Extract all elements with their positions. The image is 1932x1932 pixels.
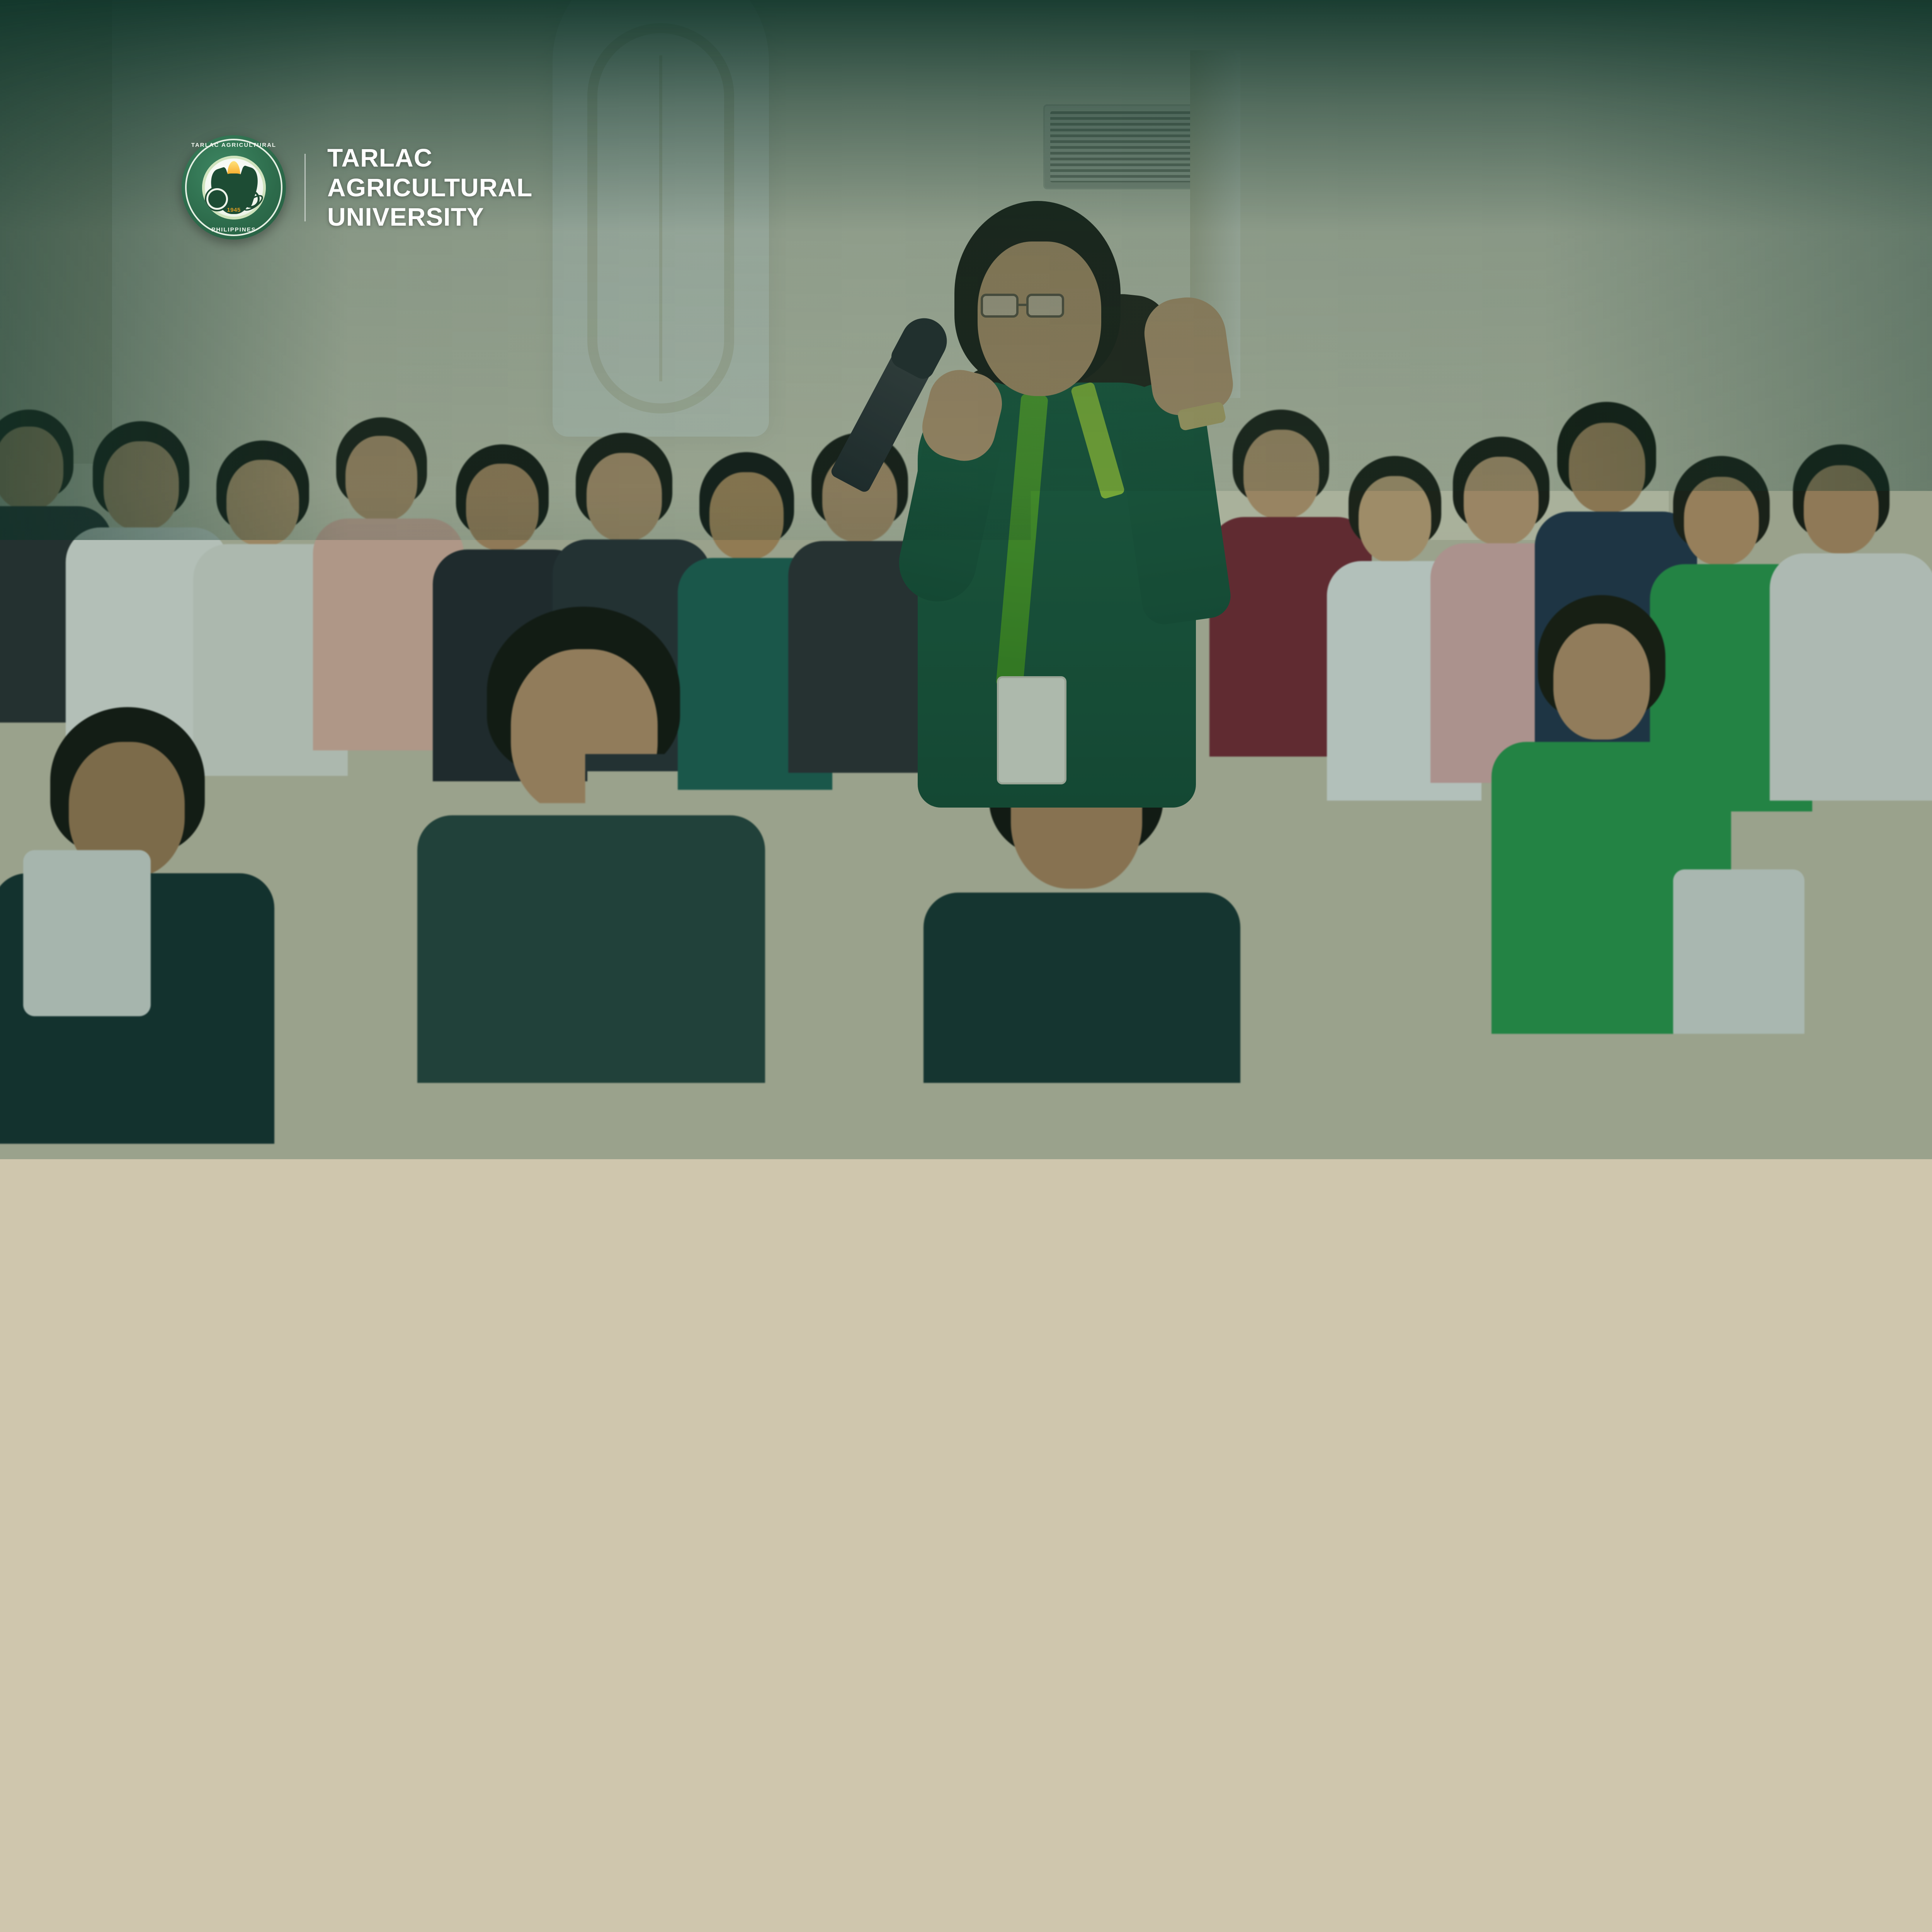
article-summary: Demonstrating its dedication to producin…: [278, 1473, 1743, 1628]
tau-seal-icon: TARLAC AGRICULTURAL PHILIPPINES 1945: [182, 135, 286, 240]
seal-year: 1945: [202, 207, 266, 213]
torch-flame-icon: [1034, 1864, 1047, 1886]
the-reporter-label: REPORTER: [662, 1908, 701, 1916]
suc-wordmark: SUC LEVEL: [907, 1832, 981, 1872]
logo-suc-level-iv: SUC LEVEL: [907, 1832, 981, 1932]
headline-highlight: Pre- Deployment Orientation Seminar: [182, 1289, 1515, 1373]
logo-prime-hrm: PRIME HRM: [1023, 1854, 1058, 1917]
the-col3-label: EDUCATION: [682, 1868, 686, 1893]
the-letters-icon: TIMES HIGHER EDUCATION: [662, 1855, 689, 1884]
headline-rest: for: [1515, 1289, 1635, 1373]
greenmetric-metric: Metric: [398, 1874, 437, 1889]
suc-line1: SUC: [907, 1832, 981, 1852]
appliedhe-applied: Applied: [488, 1861, 555, 1883]
logo-caption: 2025 | RANKED 1001-1500: [97, 1897, 197, 1906]
logo-subtitle: World University Rankings: [362, 1889, 446, 1896]
iso-sub1: CERTIFIED QUALITY: [749, 1903, 846, 1913]
five-stars-icon: ★★★★★: [243, 1861, 316, 1874]
iso-standard-label: ISO 9001:2015: [743, 1882, 865, 1901]
logo-caption: 2026 | Ranked 246: [488, 1900, 558, 1909]
website-panel[interactable]: tau.edu.ph #SmartTAU: [1526, 1813, 1932, 1932]
the-rankings-label2: RANKINGS: [662, 1900, 701, 1908]
seal-arc-bottom: PHILIPPINES: [182, 226, 286, 233]
hrm-label: HRM: [1031, 1908, 1051, 1917]
website-url[interactable]: tau.edu.ph: [1633, 1835, 1856, 1880]
university-name-line2: AGRICULTURAL: [327, 173, 532, 202]
logo-caption: 2025 | Ranked 308: [369, 1900, 439, 1909]
the-rankings-label: RANKINGS: [139, 1874, 179, 1884]
iso-sub2: MANAGEMENT SYSTEM: [749, 1913, 859, 1923]
logo-ui-greenmetric: UI Green Metric World University Ranking…: [362, 1862, 446, 1909]
logo-appliedhe: AppliedHE™ Public University Ranking 202…: [488, 1862, 620, 1909]
iso-description: CERTIFIED QUALITY MANAGEMENT SYSTEM: [743, 1901, 865, 1926]
prime-label: PRIME: [1024, 1898, 1058, 1908]
trademark-symbol: ™: [583, 1865, 591, 1874]
poster-canvas: TARLAC AGRICULTURAL PHILIPPINES 1945 TAR…: [0, 0, 1932, 1932]
wuri-wordmark: WURI: [247, 1874, 313, 1898]
university-name-line1: TARLAC: [327, 143, 532, 173]
hashtag: #SmartTAU: [1680, 1884, 1809, 1910]
logo-divider: [304, 154, 306, 221]
scroll-chevrons[interactable]: [191, 1536, 237, 1609]
the-col2-label: HIGHER: [673, 1872, 677, 1889]
university-name: TARLAC AGRICULTURAL UNIVERSITY: [327, 143, 532, 232]
logo-iso-9001: W ISO 9001:2015 CERTIFIED QUALITY MANAGE…: [743, 1845, 865, 1926]
logo-subtitle: Public University Ranking: [488, 1884, 620, 1897]
the-university-label: UNIVERSITY: [662, 1892, 701, 1900]
certification-seal-icon: W: [786, 1845, 823, 1882]
color-bars-icon: [139, 1886, 179, 1894]
chevron-down-icon[interactable]: [191, 1572, 226, 1590]
roman-numeral-four-icon: [927, 1872, 962, 1906]
logo-caption: 2025|RANKED 93: [247, 1901, 313, 1910]
appliedhe-wordmark: AppliedHE™: [488, 1862, 591, 1882]
gear-icon: [208, 190, 226, 208]
university-name-line3: UNIVERSITY: [327, 202, 532, 232]
the-col1-label: TIMES: [664, 1874, 668, 1887]
badge-label: CAPTURED IN LENS: [214, 1209, 460, 1244]
banner-icon: [924, 1906, 935, 1932]
appliedhe-he: HE: [555, 1861, 583, 1883]
globe-icon: [379, 1857, 394, 1873]
greenmetric-wordmark: Green Metric: [398, 1862, 437, 1888]
the-impact-label: IMPACT: [139, 1865, 179, 1874]
card-content: Pre- Deployment Orientation Seminar for …: [182, 1291, 1743, 1685]
university-logo-lockup: TARLAC AGRICULTURAL PHILIPPINES 1945 TAR…: [182, 135, 532, 240]
the-letters-icon: [115, 1870, 137, 1894]
wreath-icon: [1023, 1854, 1058, 1896]
page-title: Pre- Deployment Orientation Seminar for …: [182, 1291, 1743, 1452]
seal-arc-top: TARLAC AGRICULTURAL: [182, 142, 286, 148]
atom-icon: [242, 190, 260, 208]
logo-the-reporter: TIMES HIGHER EDUCATION WORLD UNIVERSITY …: [662, 1855, 701, 1917]
chevron-up-icon[interactable]: [191, 1536, 226, 1554]
logo-wuri: ★★★★★ WURI 2025|RANKED 93: [243, 1861, 316, 1910]
headline-line2: CAF and CET Student Interns: [182, 1372, 1743, 1453]
captured-in-lens-badge: CAPTURED IN LENS: [182, 1194, 568, 1260]
logo-the-impact-rankings: IMPACT RANKINGS 2025 | RANKED 1001-1500: [97, 1865, 197, 1907]
read-more-link[interactable]: Read more...: [278, 1657, 1743, 1685]
suc-line2: LEVEL: [907, 1852, 981, 1872]
